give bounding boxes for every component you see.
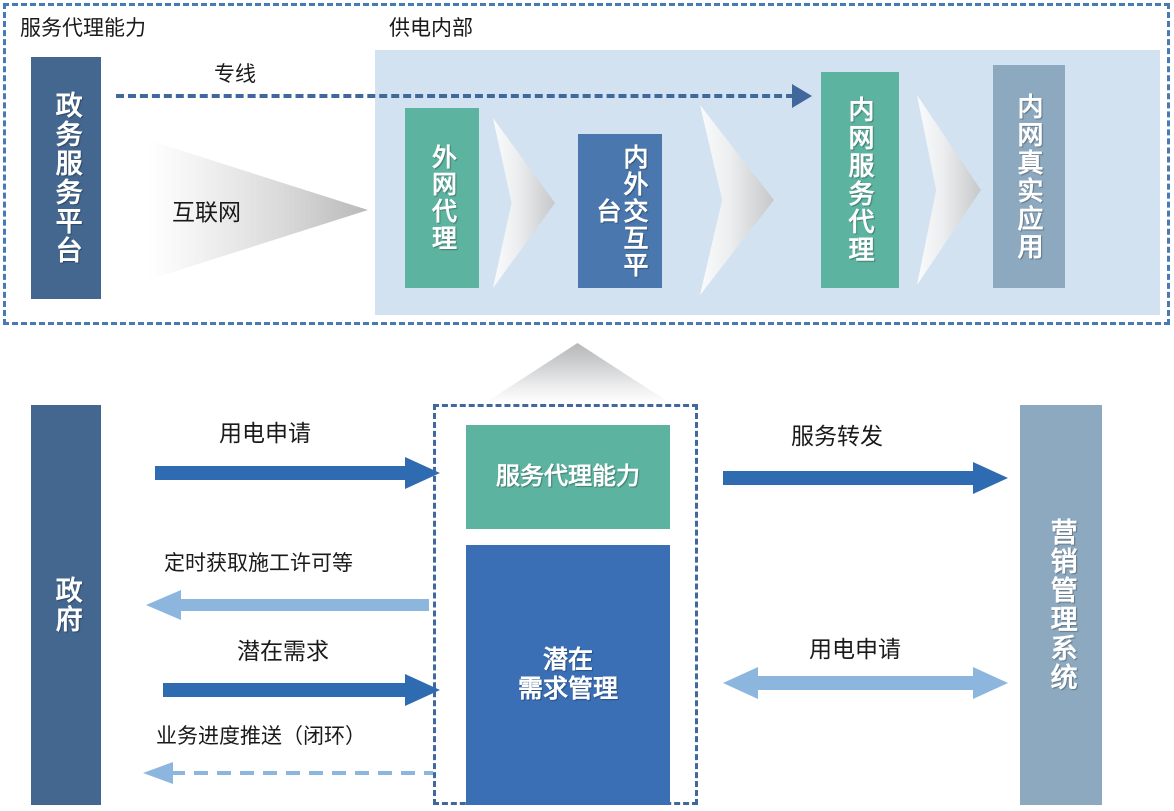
section-caption-service-agent: 服务代理能力 (20, 18, 146, 39)
box-service-agent-capability[interactable]: 服务代理能力 (466, 425, 670, 529)
box-internal-external-interaction-platform[interactable]: 内外交互平台 (578, 134, 662, 288)
arrow-label-apply-electricity-left: 用电申请 (219, 422, 311, 445)
box-potential-demand-management-line2: 需求管理 (518, 675, 618, 703)
dedicated-line-label: 专线 (214, 58, 256, 88)
box-government-label: 政府 (51, 576, 80, 634)
box-intranet-service-proxy[interactable]: 内网服务代理 (821, 72, 899, 288)
box-government-service-platform[interactable]: 政务服务平台 (31, 57, 101, 299)
box-intranet-real-application[interactable]: 内网真实应用 (993, 65, 1065, 288)
box-potential-demand-management-line1: 潜在 (543, 646, 593, 674)
box-internal-external-interaction-platform-label: 内外交互平台 (593, 136, 647, 286)
box-government-service-platform-label: 政务服务平台 (51, 91, 80, 265)
arrow-label-service-forward: 服务转发 (791, 425, 883, 448)
arrow-scheduled-permit (146, 588, 429, 622)
box-intranet-service-proxy-label: 内网服务代理 (846, 96, 874, 264)
box-intranet-real-application-label: 内网真实应用 (1015, 93, 1043, 261)
box-potential-demand-management-label: 潜在 需求管理 (518, 646, 618, 704)
arrow-label-business-progress-push: 业务进度推送（闭环） (156, 726, 366, 747)
dedicated-line-arrowhead-icon (792, 84, 812, 108)
box-marketing-management-system[interactable]: 营销管理系统 (1020, 405, 1102, 805)
arrow-apply-electricity-left (155, 455, 440, 491)
box-potential-demand-management[interactable]: 潜在 需求管理 (466, 545, 670, 805)
diagram-canvas: 服务代理能力 供电内部 互联网 专线 政务服务平台 外网代理 内外交互平台 内网… (0, 0, 1174, 811)
section-caption-power-supply-internal: 供电内部 (389, 18, 473, 39)
box-external-network-proxy[interactable]: 外网代理 (405, 108, 479, 288)
box-external-network-proxy-label: 外网代理 (429, 144, 456, 252)
box-government[interactable]: 政府 (31, 405, 101, 805)
arrow-label-potential-demand: 潜在需求 (237, 640, 329, 663)
arrow-business-progress-push (143, 760, 433, 786)
upward-connector-triangle (485, 343, 670, 403)
arrow-label-apply-electricity-right: 用电申请 (809, 638, 901, 661)
internet-label: 互联网 (172, 193, 241, 227)
arrow-potential-demand (163, 672, 440, 708)
dedicated-line-dashed-arrow (116, 94, 806, 98)
arrow-service-forward (723, 460, 1008, 496)
arrow-label-scheduled-permit: 定时获取施工许可等 (164, 553, 353, 574)
box-service-agent-capability-label: 服务代理能力 (496, 463, 640, 491)
arrow-apply-electricity-right (723, 665, 1008, 701)
box-marketing-management-system-label: 营销管理系统 (1046, 518, 1075, 692)
